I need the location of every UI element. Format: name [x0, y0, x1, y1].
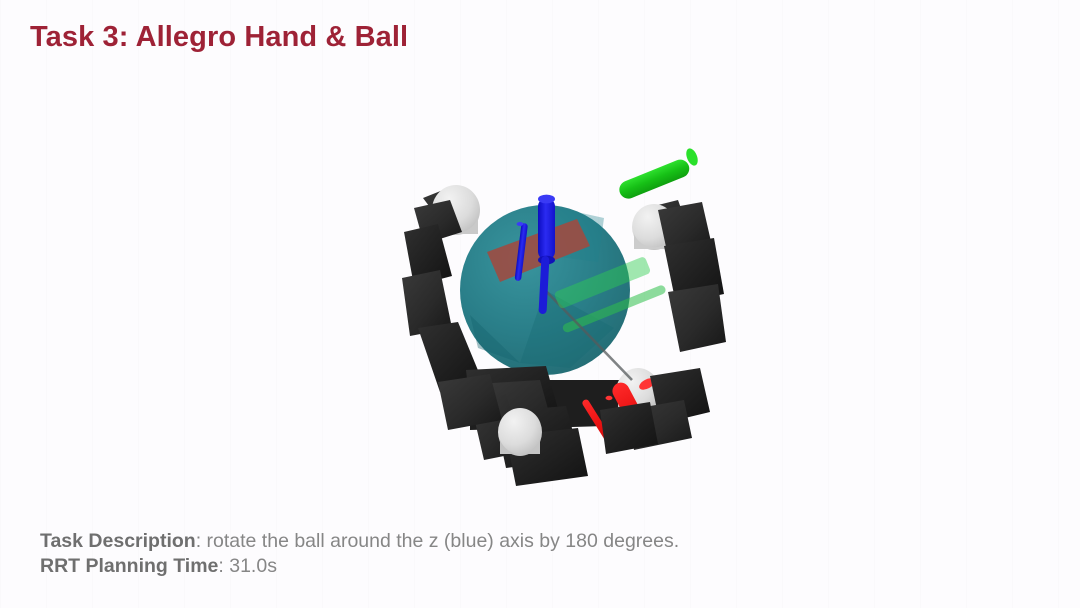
simulation-viewport: [0, 80, 1080, 510]
page-title: Task 3: Allegro Hand & Ball: [30, 21, 408, 54]
fingertip-thumb-front: [498, 408, 542, 456]
planning-time-value: : 31.0s: [218, 555, 277, 577]
task-description-label: Task Description: [40, 530, 196, 552]
task-description-value: : rotate the ball around the z (blue) ax…: [196, 530, 679, 552]
planning-time-label: RRT Planning Time: [40, 555, 218, 577]
task-description-line: Task Description: rotate the ball around…: [40, 529, 679, 554]
finger-right-upper-distal: [668, 284, 726, 352]
planning-time-line: RRT Planning Time: 31.0s: [40, 554, 679, 579]
caption-block: Task Description: rotate the ball around…: [40, 529, 679, 579]
finger-right-upper: [658, 202, 726, 352]
simulation-canvas: [0, 80, 1080, 510]
slide-root: Task 3: Allegro Hand & Ball: [0, 0, 1080, 608]
